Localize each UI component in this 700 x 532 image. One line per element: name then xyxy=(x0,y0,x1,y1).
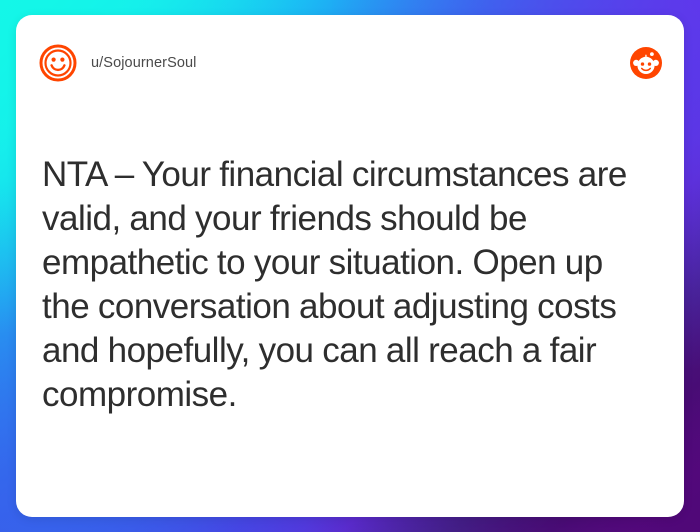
smiley-face-avatar-icon xyxy=(38,43,78,83)
post-author[interactable]: u/SojournerSoul xyxy=(38,43,197,83)
author-username: u/SojournerSoul xyxy=(91,55,197,71)
post-text: NTA – Your financial circumstances are v… xyxy=(42,153,658,417)
post-body: NTA – Your financial circumstances are v… xyxy=(16,111,684,517)
gradient-background: u/SojournerSoul xyxy=(0,0,700,532)
reddit-post-card: u/SojournerSoul xyxy=(16,15,684,517)
post-header: u/SojournerSoul xyxy=(16,15,684,111)
reddit-snoo-icon[interactable] xyxy=(630,47,662,79)
